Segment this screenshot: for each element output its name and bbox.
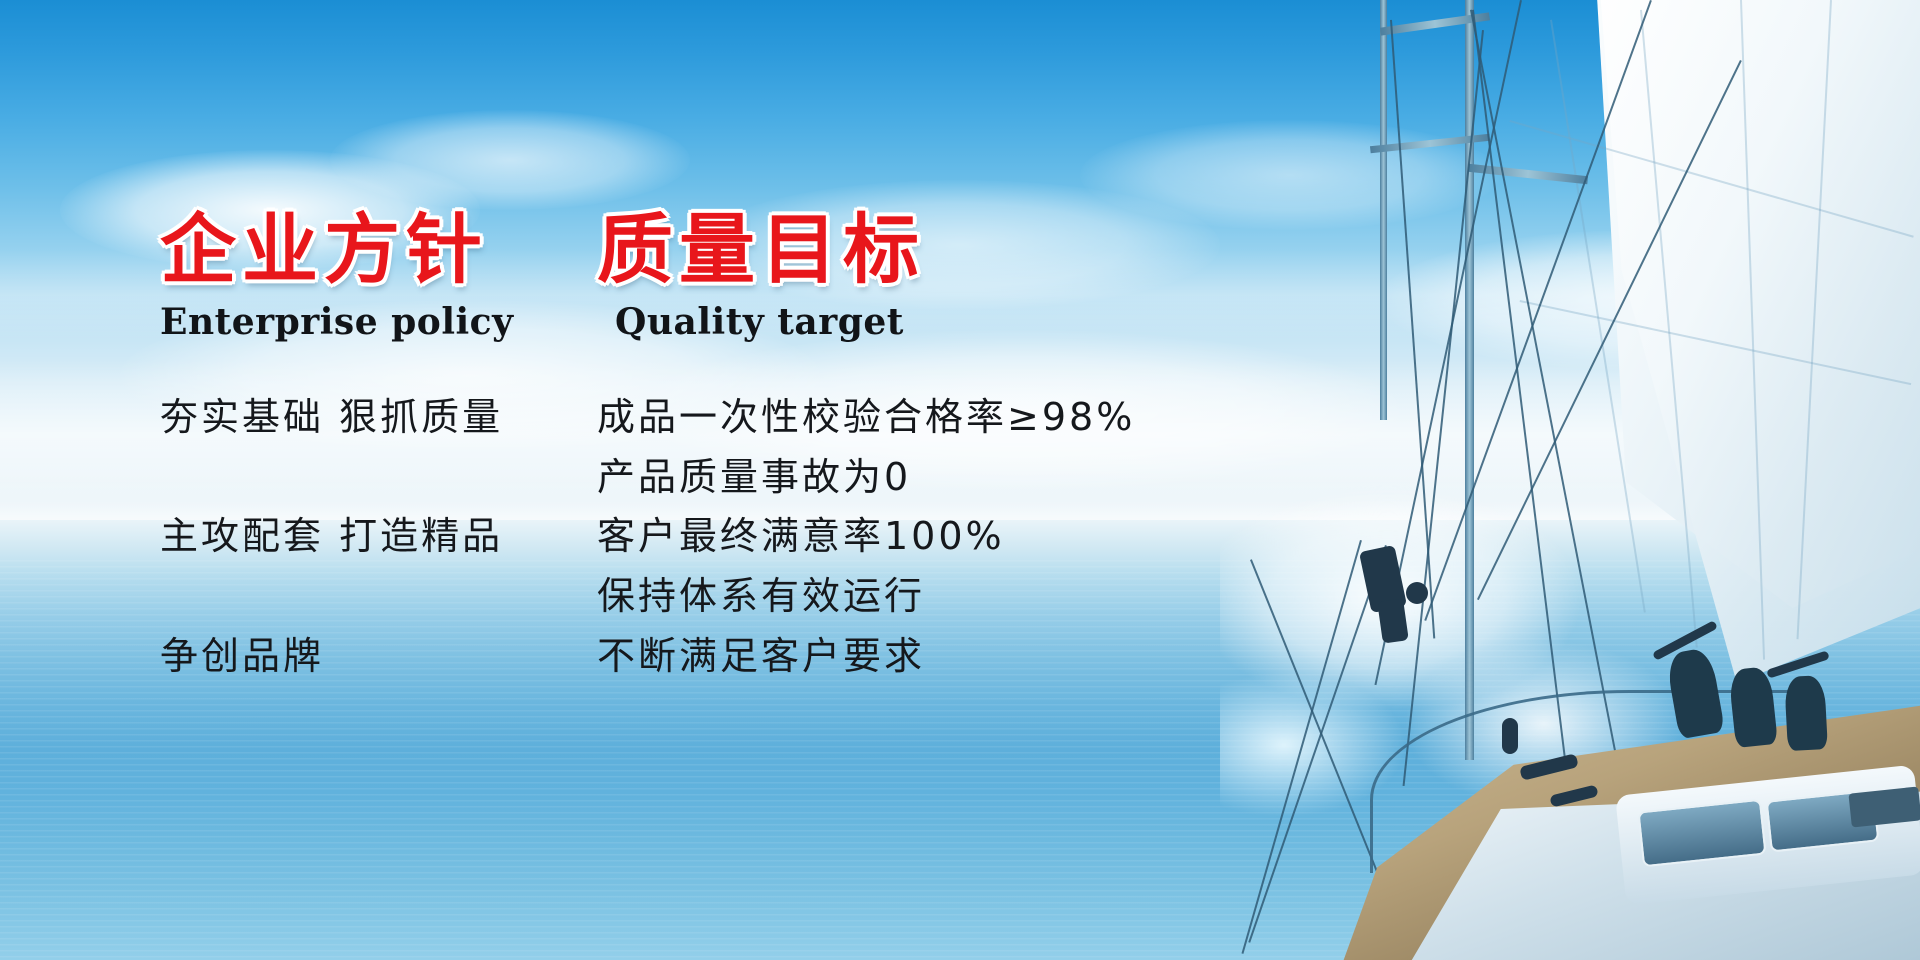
quality-target-heading-cn: 质量目标 (597, 212, 925, 288)
enterprise-policy-line-3: 争创品牌 (160, 625, 324, 680)
sailboat-photo (1220, 0, 1920, 960)
crew-member (1784, 675, 1828, 751)
enterprise-policy-heading-en: Enterprise policy (160, 301, 514, 343)
banner-canvas: 企业方针 Enterprise policy 夯实基础 狠抓质量 主攻配套 打造… (0, 0, 1920, 960)
quality-target-line-3: 客户最终满意率100% (597, 505, 1005, 560)
enterprise-policy-line-1: 夯实基础 狠抓质量 (160, 386, 503, 441)
mast-secondary (1380, 0, 1387, 420)
quality-target-line-4: 保持体系有效运行 (597, 565, 925, 620)
quality-target-heading-en: Quality target (615, 301, 904, 343)
quality-target-line-2: 产品质量事故为0 (597, 446, 911, 501)
winch (1406, 582, 1428, 604)
enterprise-policy-heading-cn: 企业方针 (160, 212, 488, 288)
quality-target-line-1: 成品一次性校验合格率≥98% (597, 386, 1135, 441)
enterprise-policy-line-2: 主攻配套 打造精品 (160, 505, 503, 560)
instrument-panel (1848, 786, 1920, 827)
deck-fitting (1502, 718, 1518, 754)
crew-member (1728, 666, 1778, 748)
quality-target-line-5: 不断满足客户要求 (597, 625, 925, 680)
